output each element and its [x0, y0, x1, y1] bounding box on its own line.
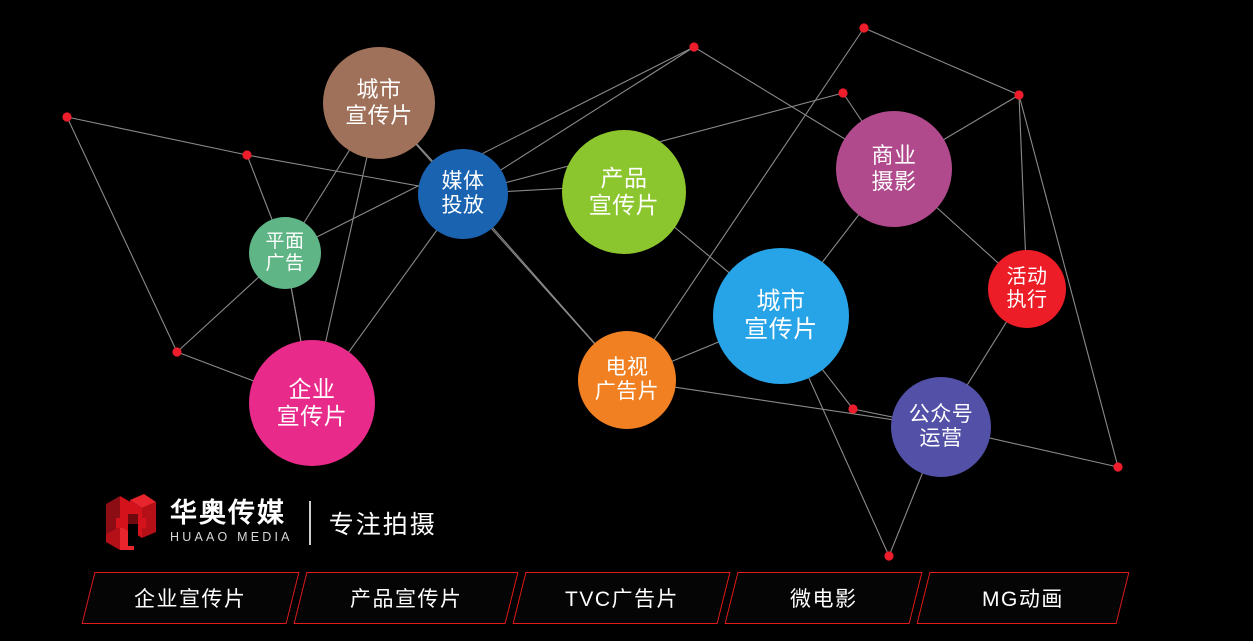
tab-label: MG动画: [982, 583, 1064, 613]
bubble-print-ad[interactable]: 平面广告: [249, 217, 321, 289]
brand-logo: 华奥传媒 HUAAO MEDIA 专注拍摄: [104, 492, 437, 554]
bubble-label-line2: 广告片: [595, 380, 660, 404]
dot-mid-upper-icon[interactable]: [838, 88, 847, 97]
bubble-label-line2: 投放: [442, 194, 485, 218]
bubble-label-line2: 宣传片: [277, 403, 348, 430]
tab-micro-film[interactable]: 微电影: [725, 572, 923, 624]
bubble-label-line1: 产品: [601, 165, 648, 192]
dot-mid-right-icon[interactable]: [848, 404, 857, 413]
dot-right-top-icon[interactable]: [1014, 90, 1023, 99]
bubble-label-line2: 宣传片: [345, 103, 413, 129]
tab-label: TVC广告片: [565, 583, 679, 613]
bubble-tv-commercial[interactable]: 电视广告片: [578, 331, 676, 429]
bubble-media-placement[interactable]: 媒体投放: [418, 149, 508, 239]
bubble-label-line1: 企业: [289, 376, 336, 403]
bubble-label-line2: 执行: [1007, 289, 1048, 312]
graph-edge: [864, 28, 1019, 95]
dot-left-low-icon[interactable]: [172, 347, 181, 356]
bubble-event-execution[interactable]: 活动执行: [988, 250, 1066, 328]
logo-tagline: 专注拍摄: [329, 505, 437, 541]
tab-mg-animation[interactable]: MG动画: [917, 572, 1130, 624]
bubble-label-line2: 广告: [265, 253, 304, 275]
bubble-label-line2: 宣传片: [744, 316, 818, 344]
logo-name-cn: 华奥传媒: [170, 499, 293, 529]
graph-dot-layer: [62, 23, 1122, 560]
bubble-label-line1: 城市: [757, 288, 806, 316]
dot-top-right-icon[interactable]: [859, 23, 868, 32]
huaao-logo-icon: [104, 494, 158, 552]
bubble-product-promo[interactable]: 产品宣传片: [562, 130, 686, 254]
dot-top-center-icon[interactable]: [689, 42, 698, 51]
tab-label: 微电影: [790, 583, 858, 613]
bubble-label-line1: 商业: [871, 143, 916, 169]
bubble-label-line1: 平面: [265, 231, 304, 253]
graph-edge: [67, 117, 177, 352]
bubble-label-line1: 活动: [1007, 266, 1048, 289]
bubble-city-promo-blue[interactable]: 城市宣传片: [713, 248, 849, 384]
tab-tvc[interactable]: TVC广告片: [513, 572, 731, 624]
dot-left-top-icon[interactable]: [62, 112, 71, 121]
bubble-label-line2: 宣传片: [589, 192, 660, 219]
graph-edge: [67, 117, 247, 155]
logo-wordmark: 华奥传媒 HUAAO MEDIA: [170, 499, 293, 547]
bubble-wechat-operation[interactable]: 公众号运营: [891, 377, 991, 477]
graph-edge-layer: [67, 28, 1118, 556]
tab-product-film[interactable]: 产品宣传片: [294, 572, 519, 624]
dot-upper-left-icon[interactable]: [242, 150, 251, 159]
bubble-city-promo-brown[interactable]: 城市宣传片: [323, 47, 435, 159]
bubble-corporate-promo[interactable]: 企业宣传片: [249, 340, 375, 466]
logo-divider: [309, 501, 311, 545]
tab-label: 企业宣传片: [134, 583, 247, 613]
dot-far-right-icon[interactable]: [1113, 462, 1122, 471]
bubble-commercial-photo[interactable]: 商业摄影: [836, 111, 952, 227]
category-tab-bar[interactable]: 企业宣传片产品宣传片TVC广告片微电影MG动画: [88, 570, 1130, 626]
bubble-label-line1: 公众号: [909, 403, 974, 427]
tab-corporate-film[interactable]: 企业宣传片: [82, 572, 300, 624]
bubble-label-line2: 摄影: [871, 169, 916, 195]
bubble-label-line1: 城市: [356, 77, 401, 103]
tab-label: 产品宣传片: [350, 583, 463, 613]
bubble-label-line1: 电视: [606, 356, 649, 380]
bubble-label-line2: 运营: [920, 427, 963, 451]
bubble-label-line1: 媒体: [442, 170, 485, 194]
logo-name-en: HUAAO MEDIA: [170, 528, 293, 547]
slide-canvas: 城市宣传片媒体投放平面广告产品宣传片商业摄影活动执行城市宣传片企业宣传片电视广告…: [0, 0, 1253, 641]
dot-bottom-icon[interactable]: [884, 551, 893, 560]
